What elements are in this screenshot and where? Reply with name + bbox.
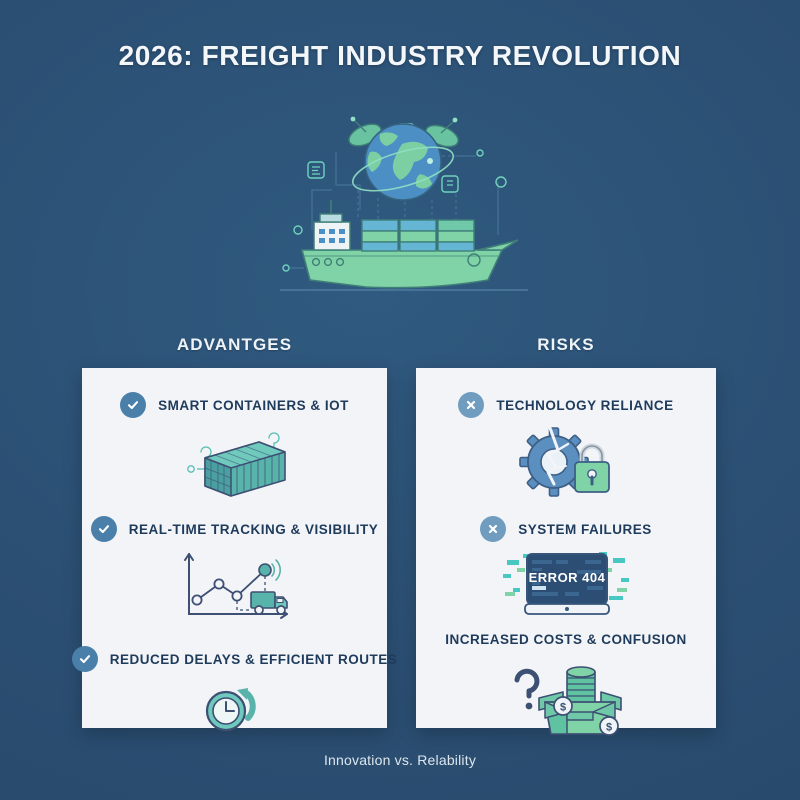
cross-icon (458, 392, 484, 418)
risk-item-3: INCREASED COSTS & CONFUSION (416, 626, 716, 738)
advantage-item-1: SMART CONTAINERS & IOT (82, 392, 387, 504)
risk-label-1: TECHNOLOGY RELIANCE (496, 398, 673, 413)
infographic-canvas: 2026: FREIGHT INDUSTRY REVOLUTION (0, 0, 800, 800)
svg-text:$: $ (560, 702, 566, 714)
clock-arrow-icon (82, 678, 387, 736)
hero-illustration (270, 90, 540, 295)
broken-gear-lock-icon (416, 424, 716, 504)
tracking-chart-truck-icon (82, 548, 387, 626)
advantage-item-2: REAL-TIME TRACKING & VISIBILITY (82, 516, 387, 626)
risks-card: TECHNOLOGY RELIANCE (416, 368, 716, 728)
cross-icon (480, 516, 506, 542)
svg-text:$: $ (606, 722, 612, 734)
advantages-heading: ADVANTGES (82, 335, 387, 355)
advantage-label-3: REDUCED DELAYS & EFFICIENT ROUTES (110, 652, 398, 667)
risk-item-2: SYSTEM FAILURES (416, 516, 716, 620)
shipping-container-icon (82, 424, 387, 504)
advantage-label-2: REAL-TIME TRACKING & VISIBILITY (129, 522, 379, 537)
check-icon (72, 646, 98, 672)
risk-item-1: TECHNOLOGY RELIANCE (416, 392, 716, 504)
check-icon (91, 516, 117, 542)
error-screen-icon: ERROR 404 (416, 548, 716, 620)
advantage-item-3: REDUCED DELAYS & EFFICIENT ROUTES (82, 646, 387, 736)
risks-heading: RISKS (416, 335, 716, 355)
error-screen-text: ERROR 404 (529, 570, 606, 585)
advantages-card: SMART CONTAINERS & IOT (82, 368, 387, 728)
footer-caption: Innovation vs. Relability (0, 752, 800, 768)
risk-label-3: INCREASED COSTS & CONFUSION (416, 632, 716, 647)
page-title: 2026: FREIGHT INDUSTRY REVOLUTION (0, 40, 800, 72)
advantage-label-1: SMART CONTAINERS & IOT (158, 398, 349, 413)
money-box-question-icon: $ $ (416, 658, 716, 738)
check-icon (120, 392, 146, 418)
risk-label-2: SYSTEM FAILURES (518, 522, 652, 537)
